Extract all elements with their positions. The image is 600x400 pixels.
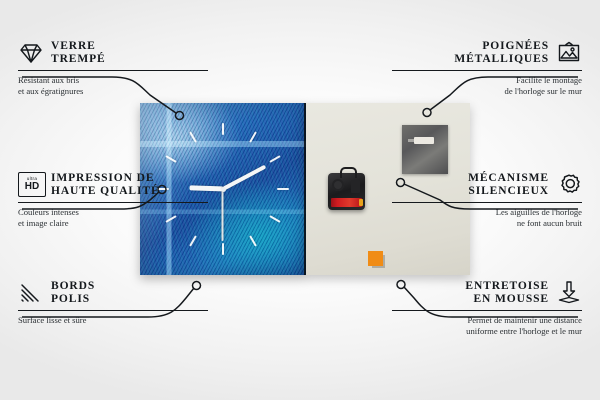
callout-header: POIGNÉES MÉTALLIQUES [392, 40, 582, 66]
callout-rule [392, 202, 582, 203]
callout-header: MÉCANISME SILENCIEUX [392, 172, 582, 198]
callout-rule [18, 310, 208, 311]
clock-center-pin [221, 187, 226, 192]
mechanism-hook [340, 167, 357, 178]
polished-edges-icon [18, 280, 44, 306]
diamond-icon [18, 40, 44, 66]
minute-hand [222, 165, 266, 191]
callout-title: MÉCANISME SILENCIEUX [468, 172, 549, 198]
callout-description: Permet de maintenir une distance uniform… [392, 315, 582, 336]
callout-impression-haute-qualite: ultra HD IMPRESSION DE HAUTE QUALITÉ Cou… [18, 172, 208, 228]
second-hand [222, 189, 224, 241]
callout-bords-polis: BORDS POLIS Surface lisse et sûre [18, 280, 208, 326]
callout-title: IMPRESSION DE HAUTE QUALITÉ [51, 172, 160, 198]
callout-title: VERRE TREMPÉ [51, 40, 106, 66]
callout-mecanisme-silencieux: MÉCANISME SILENCIEUX Les aiguilles de l'… [392, 172, 582, 228]
callout-description: Facilite le montage de l'horloge sur le … [392, 75, 582, 96]
callout-rule [392, 310, 582, 311]
callout-header: BORDS POLIS [18, 280, 208, 306]
callout-title: ENTRETOISE EN MOUSSE [465, 280, 549, 306]
mechanism-dial [332, 179, 344, 191]
callout-poignees-metalliques: POIGNÉES MÉTALLIQUES Facilite le montage… [392, 40, 582, 96]
callout-rule [392, 70, 582, 71]
callout-description: Les aiguilles de l'horloge ne font aucun… [392, 207, 582, 228]
battery [331, 198, 362, 207]
hanger-slot [414, 137, 434, 144]
callout-verre-trempe: VERRE TREMPÉ Résistant aux bris et aux é… [18, 40, 208, 96]
foam-spacer-arrow-icon [556, 280, 582, 306]
metal-hanger-plate [402, 125, 448, 174]
callout-entretoise-en-mousse: ENTRETOISE EN MOUSSE Permet de maintenir… [392, 280, 582, 336]
callout-rule [18, 70, 208, 71]
callout-header: ENTRETOISE EN MOUSSE [392, 280, 582, 306]
callout-title: BORDS POLIS [51, 280, 95, 306]
callout-description: Couleurs intenses et image claire [18, 207, 208, 228]
callout-description: Résistant aux bris et aux égratignures [18, 75, 208, 96]
picture-frame-hook-icon [556, 40, 582, 66]
clock-mechanism [328, 173, 365, 210]
infographic-stage: VERRE TREMPÉ Résistant aux bris et aux é… [0, 0, 600, 400]
foam-spacer-pad [368, 251, 383, 266]
callout-header: VERRE TREMPÉ [18, 40, 208, 66]
callout-header: ultra HD IMPRESSION DE HAUTE QUALITÉ [18, 172, 208, 198]
callout-description: Surface lisse et sûre [18, 315, 208, 325]
ultra-hd-icon: ultra HD [18, 172, 44, 198]
callout-rule [18, 202, 208, 203]
gear-icon [556, 172, 582, 198]
callout-title: POIGNÉES MÉTALLIQUES [454, 40, 549, 66]
mechanism-block [351, 180, 360, 193]
